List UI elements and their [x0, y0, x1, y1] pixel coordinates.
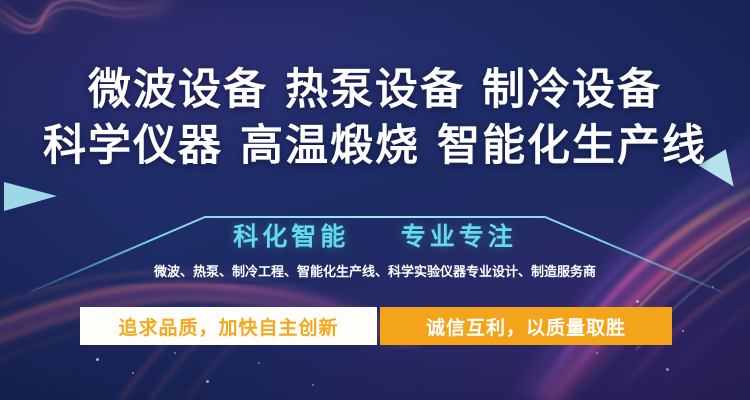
headline-line-1: 微波设备 热泵设备 制冷设备	[0, 62, 750, 118]
subheadline: 科化智能 专业专注	[0, 222, 750, 252]
promotional-banner: 微波设备 热泵设备 制冷设备 科学仪器 高温煅烧 智能化生产线 科化智能 专业专…	[0, 0, 750, 400]
tagline: 微波、热泵、制冷工程、智能化生产线、科学实验仪器专业设计、制造服务商	[0, 264, 750, 282]
slogan-right[interactable]: 诚信互利，以质量取胜	[380, 307, 672, 345]
subheadline-right: 专业专注	[401, 222, 517, 251]
headline-line-2: 科学仪器 高温煅烧 智能化生产线	[0, 118, 750, 174]
subheadline-left: 科化智能	[233, 222, 349, 251]
slogan-left[interactable]: 追求品质，加快自主创新	[80, 307, 377, 345]
headline: 微波设备 热泵设备 制冷设备 科学仪器 高温煅烧 智能化生产线	[0, 62, 750, 174]
slogan-bar: 追求品质，加快自主创新 诚信互利，以质量取胜	[80, 307, 672, 345]
